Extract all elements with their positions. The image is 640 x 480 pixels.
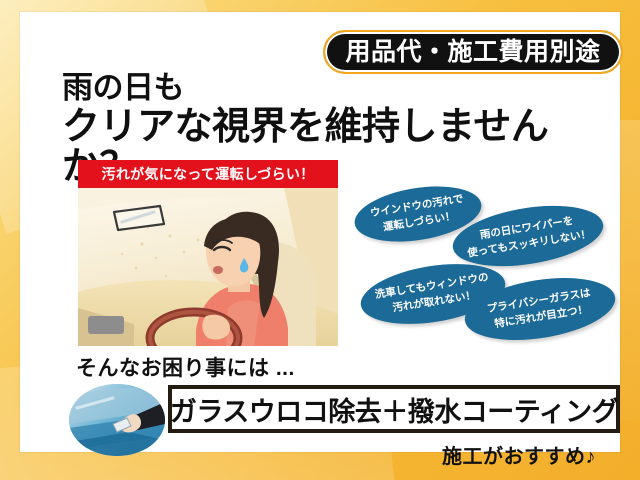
advertisement-poster: 用品代・施工費用別途 雨の日も クリアな視界を維持しませんか？ 汚れが気になって… — [0, 0, 640, 480]
recommendation-text: 施工がおすすめ♪ — [442, 440, 596, 469]
product-name-box: ガラスウロコ除去＋撥水コーティング — [168, 385, 620, 433]
windshield-coating-photo — [69, 384, 165, 456]
price-note-badge: 用品代・施工費用別途 — [323, 30, 623, 74]
product-name-label: ガラスウロコ除去＋撥水コーティング — [170, 390, 618, 429]
driving-problem-illustration: 汚れが気になって運転しづらい！ — [78, 160, 338, 346]
illustration-caption: 汚れが気になって運転しづらい！ — [78, 160, 338, 188]
coating-application-image — [69, 384, 165, 456]
price-note-badge-pill: 用品代・施工費用別途 — [323, 30, 623, 74]
woman-driving-illustration — [78, 188, 338, 346]
headline-line-1: 雨の日も — [62, 72, 622, 105]
content-card: 用品代・施工費用別途 雨の日も クリアな視界を維持しませんか？ 汚れが気になって… — [20, 12, 620, 452]
price-note-badge-label: 用品代・施工費用別途 — [345, 40, 600, 65]
lead-in-text: そんなお困り事には ... — [76, 352, 295, 382]
